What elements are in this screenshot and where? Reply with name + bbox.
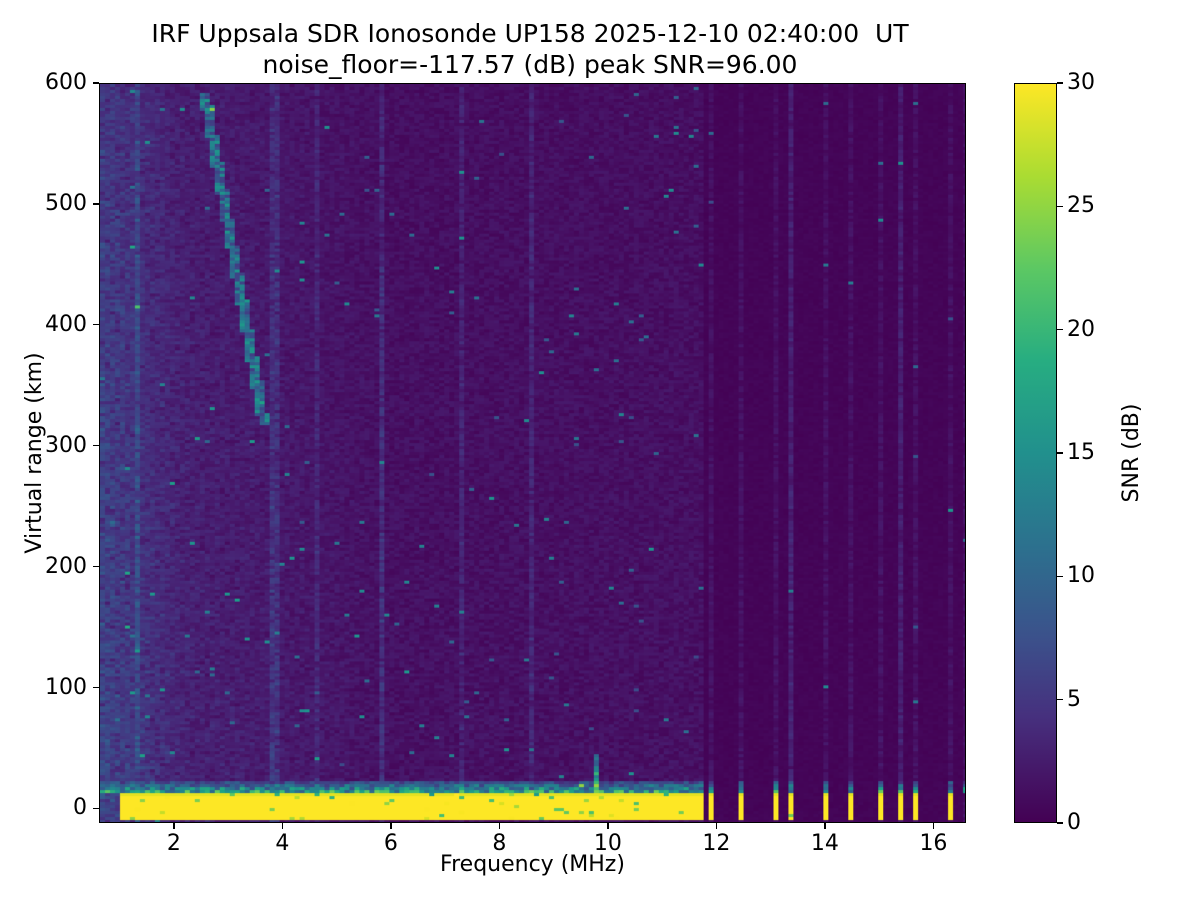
y-tick-label: 100 (7, 677, 87, 699)
x-tick-label: 6 (361, 833, 421, 855)
y-tick-label: 500 (7, 193, 87, 215)
colorbar-tick-mark (1057, 206, 1063, 207)
y-tick-mark (93, 445, 99, 446)
ionogram-figure: IRF Uppsala SDR Ionosonde UP158 2025-12-… (0, 0, 1200, 900)
x-tick-label: 8 (469, 833, 529, 855)
ionogram-heatmap (100, 84, 965, 822)
colorbar-tick-label: 15 (1067, 442, 1095, 464)
x-tick-mark (499, 823, 500, 829)
colorbar-tick-label: 25 (1067, 195, 1095, 217)
colorbar-tick-mark (1057, 576, 1063, 577)
plot-area (99, 83, 966, 823)
colorbar-label: SNR (dB) (1119, 404, 1144, 503)
colorbar (1014, 83, 1057, 823)
x-tick-mark (390, 823, 391, 829)
x-tick-mark (716, 823, 717, 829)
y-tick-mark (93, 82, 99, 83)
colorbar-tick-mark (1057, 699, 1063, 700)
y-tick-mark (93, 324, 99, 325)
colorbar-tick-mark (1057, 452, 1063, 453)
y-tick-mark (93, 203, 99, 204)
y-tick-label: 400 (7, 314, 87, 336)
x-tick-mark (824, 823, 825, 829)
x-tick-label: 2 (144, 833, 204, 855)
colorbar-tick-mark (1057, 822, 1063, 823)
title-line-1: IRF Uppsala SDR Ionosonde UP158 2025-12-… (0, 18, 1060, 49)
figure-title: IRF Uppsala SDR Ionosonde UP158 2025-12-… (0, 18, 1060, 80)
x-tick-mark (282, 823, 283, 829)
x-tick-label: 4 (252, 833, 312, 855)
colorbar-tick-label: 30 (1067, 72, 1095, 94)
colorbar-tick-mark (1057, 329, 1063, 330)
y-tick-label: 300 (7, 435, 87, 457)
colorbar-tick-label: 10 (1067, 565, 1095, 587)
colorbar-tick-mark (1057, 82, 1063, 83)
colorbar-tick-label: 20 (1067, 319, 1095, 341)
y-tick-mark (93, 687, 99, 688)
x-tick-mark (933, 823, 934, 829)
x-tick-label: 14 (795, 833, 855, 855)
x-tick-label: 12 (686, 833, 746, 855)
y-tick-label: 200 (7, 556, 87, 578)
title-line-2: noise_floor=-117.57 (dB) peak SNR=96.00 (0, 49, 1060, 80)
colorbar-tick-label: 5 (1067, 689, 1081, 711)
x-tick-label: 10 (578, 833, 638, 855)
x-tick-mark (173, 823, 174, 829)
y-tick-label: 0 (7, 797, 87, 819)
x-tick-mark (607, 823, 608, 829)
y-tick-label: 600 (7, 72, 87, 94)
x-tick-label: 16 (903, 833, 963, 855)
colorbar-tick-label: 0 (1067, 812, 1081, 834)
y-tick-mark (93, 566, 99, 567)
y-tick-mark (93, 808, 99, 809)
